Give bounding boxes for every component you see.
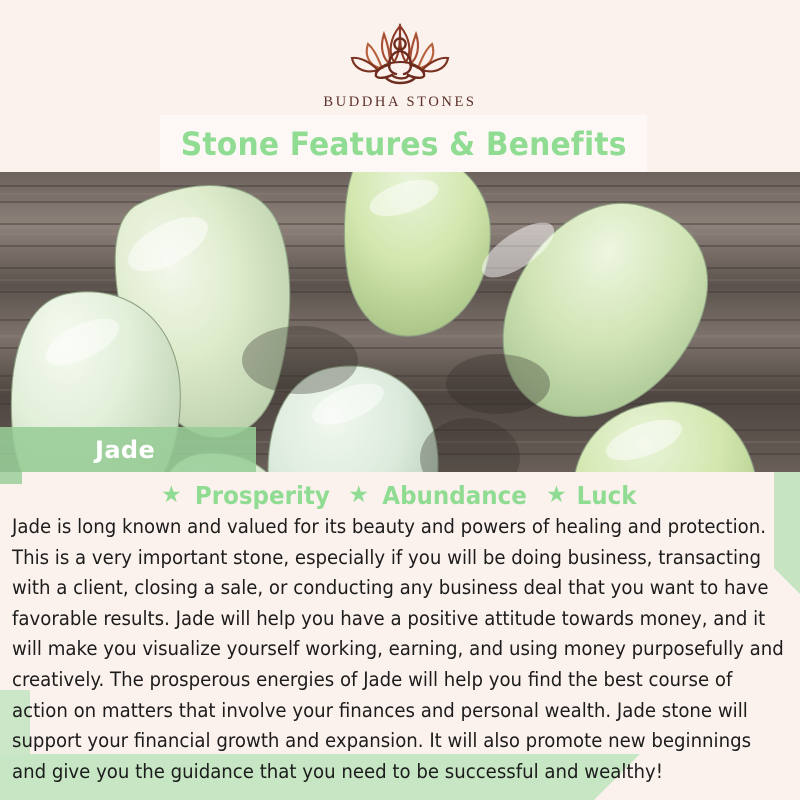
lotus-meditation-icon — [330, 18, 470, 90]
benefit-label: Prosperity — [195, 481, 330, 510]
benefit-label: Abundance — [382, 481, 527, 510]
benefit-label: Luck — [576, 481, 636, 510]
star-icon: ★ — [348, 483, 369, 506]
brand-name: BUDDHA STONES — [323, 94, 476, 111]
description-panel: Jade is long known and valued for its be… — [12, 512, 788, 787]
benefit-item-prosperity: ★ Prosperity — [161, 481, 335, 510]
description-text: Jade is long known and valued for its be… — [12, 512, 788, 787]
benefits-row: ★ Prosperity ★ Abundance ★ Luck — [0, 478, 800, 512]
stone-name-label: Jade — [95, 436, 155, 464]
brand-logo: BUDDHA STONES — [0, 18, 800, 111]
star-icon: ★ — [546, 483, 567, 506]
page-title: Stone Features & Benefits — [181, 125, 627, 163]
star-icon: ★ — [161, 483, 182, 506]
benefit-item-abundance: ★ Abundance — [348, 481, 533, 510]
stone-info-card: BUDDHA STONES Stone Features & Benefits — [0, 0, 800, 800]
title-banner: Stone Features & Benefits — [160, 115, 647, 172]
stone-name-band: Jade — [0, 427, 256, 472]
benefit-item-luck: ★ Luck — [546, 481, 639, 510]
